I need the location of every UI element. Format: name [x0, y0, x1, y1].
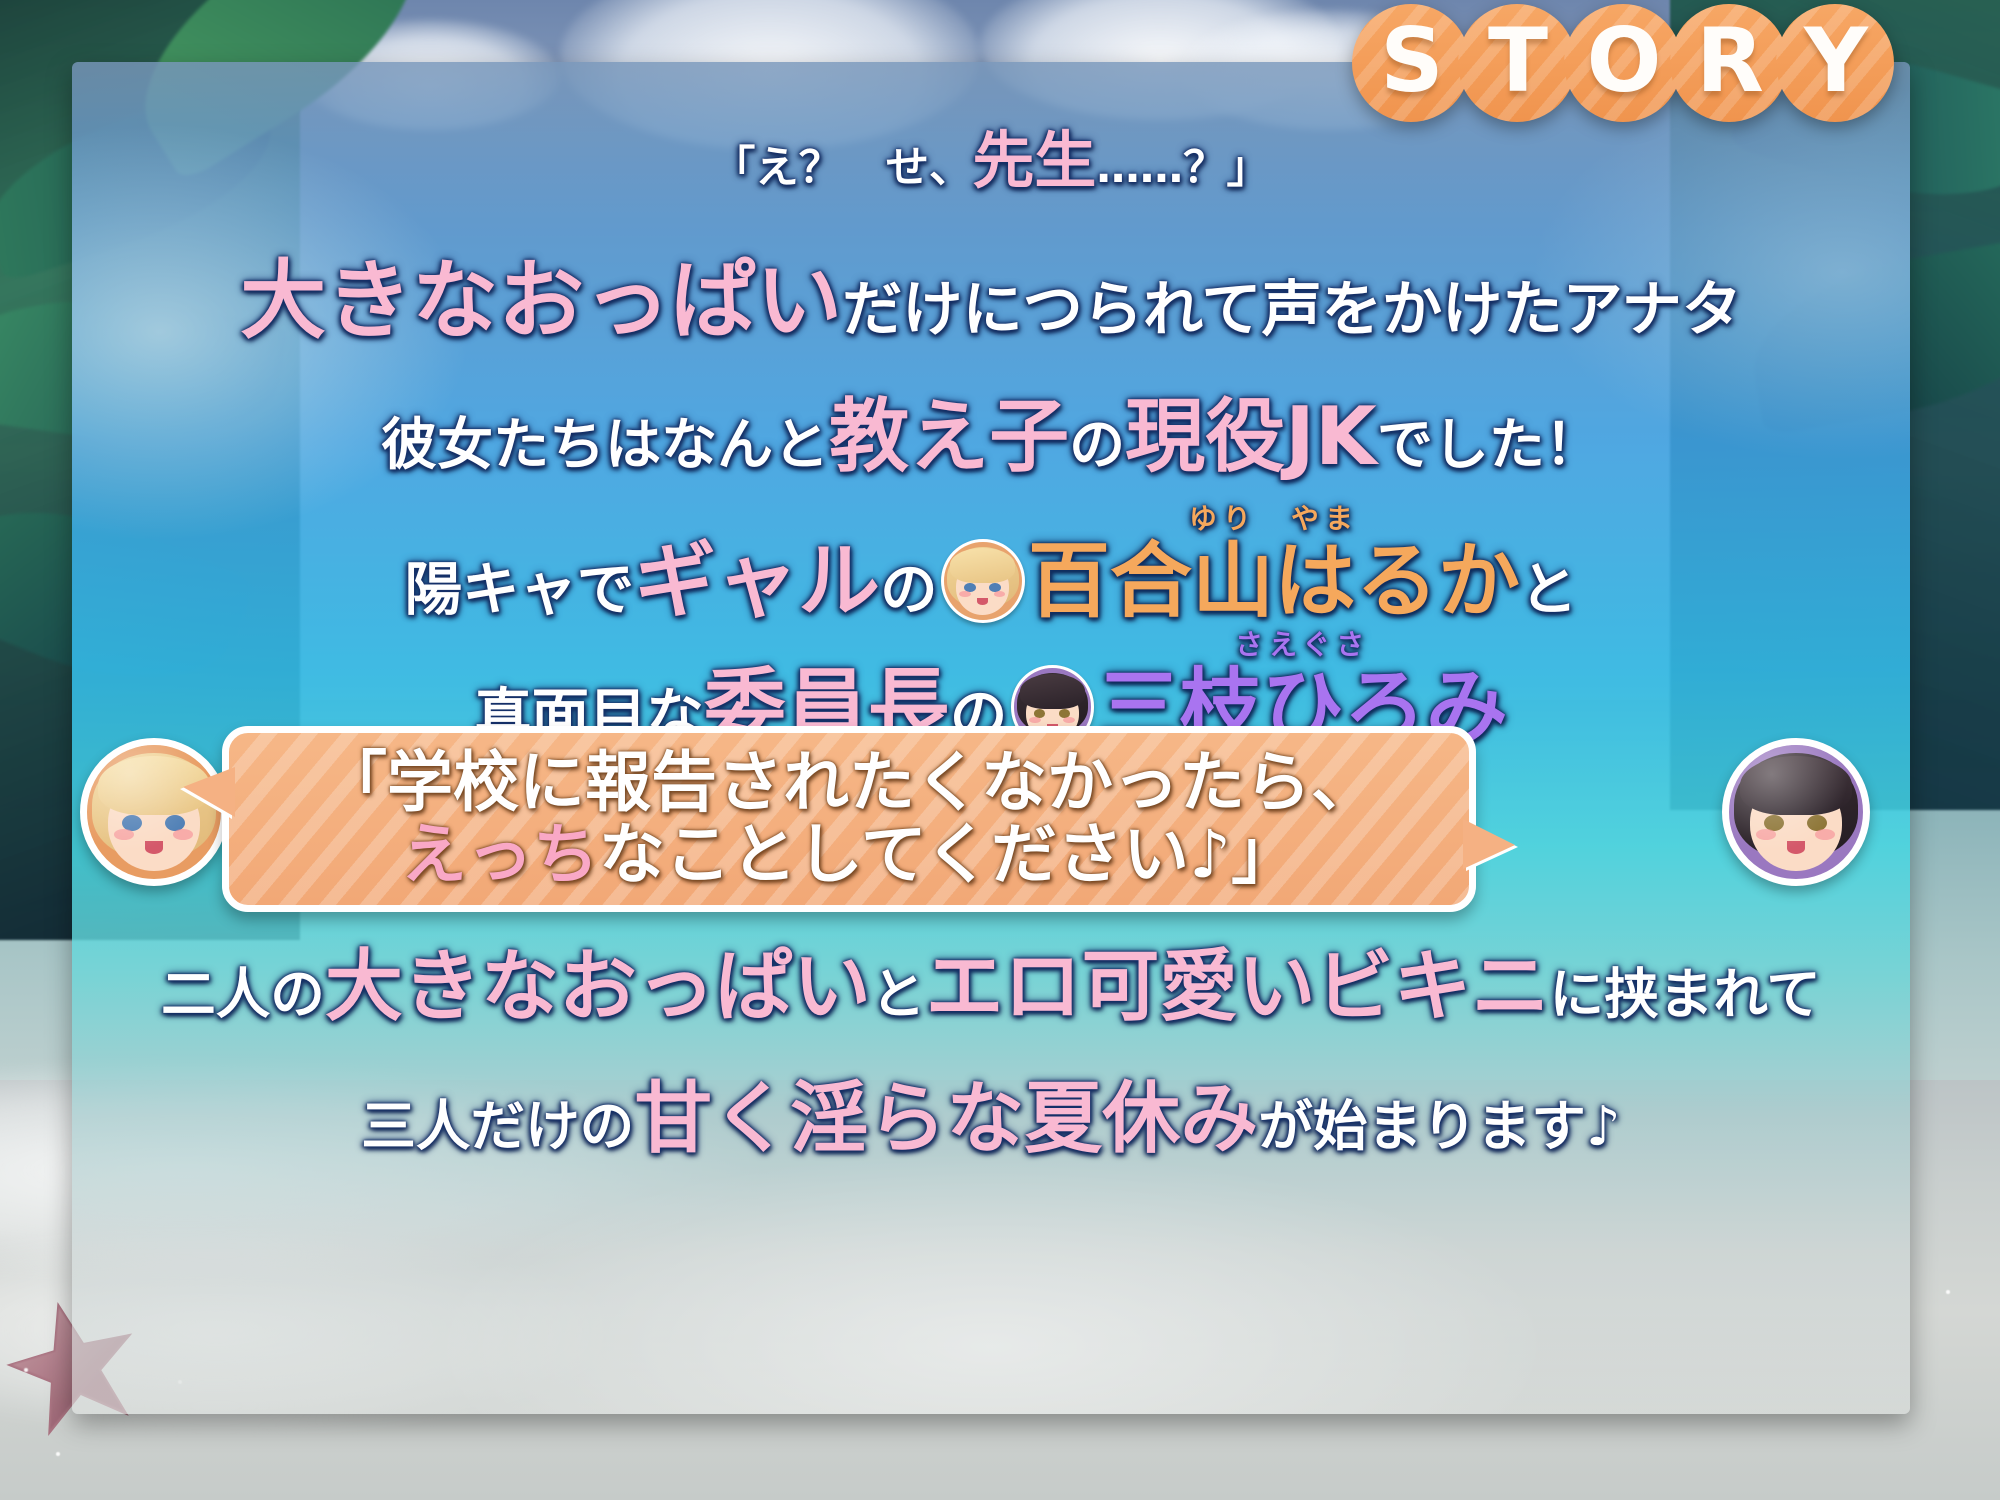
hiromi-avatar	[1722, 738, 1870, 886]
bubble-highlight-ecchi: えっち	[401, 816, 599, 893]
story-letter-o-glyph: O	[1587, 17, 1660, 105]
avatar-highlight	[1729, 745, 1863, 879]
story-panel: 「え？ せ、先生……？」 大きなおっぱいだけにつられて声をかけたアナタ 彼女たち…	[72, 62, 1910, 1414]
story-letter-s: S	[1352, 4, 1470, 122]
story-letter-o: O	[1564, 4, 1682, 122]
bubble-tail-left	[183, 767, 235, 817]
bubble-line-1: 「学校に報告されたくなかったら、	[321, 750, 1377, 816]
story-letter-s-glyph: S	[1380, 17, 1441, 105]
bubble-line1-text: 「学校に報告されたくなかったら、	[321, 744, 1377, 821]
story-page: 「え？ せ、先生……？」 大きなおっぱいだけにつられて声をかけたアナタ 彼女たち…	[0, 0, 2000, 1500]
story-letter-y-glyph: Y	[1804, 17, 1866, 105]
sparkle-icon	[1946, 1290, 1950, 1294]
story-letter-t: T	[1458, 4, 1576, 122]
speech-bubble: 「学校に報告されたくなかったら、 えっちなことしてください♪」	[222, 726, 1476, 912]
story-letter-y: Y	[1776, 4, 1894, 122]
sparkle-icon	[24, 1368, 28, 1372]
bubble-line2-text: なことしてください♪」	[599, 816, 1297, 893]
story-letter-r-glyph: R	[1696, 17, 1762, 105]
story-letter-r: R	[1670, 4, 1788, 122]
dialogue-row: 「学校に報告されたくなかったら、 えっちなことしてください♪」	[72, 62, 1910, 1414]
bubble-line-2: えっちなことしてください♪」	[401, 822, 1297, 888]
bubble-tail-right	[1463, 819, 1515, 869]
story-badge: S T O R Y	[1352, 4, 1882, 122]
sparkle-icon	[56, 1452, 60, 1456]
story-letter-t-glyph: T	[1488, 17, 1546, 105]
